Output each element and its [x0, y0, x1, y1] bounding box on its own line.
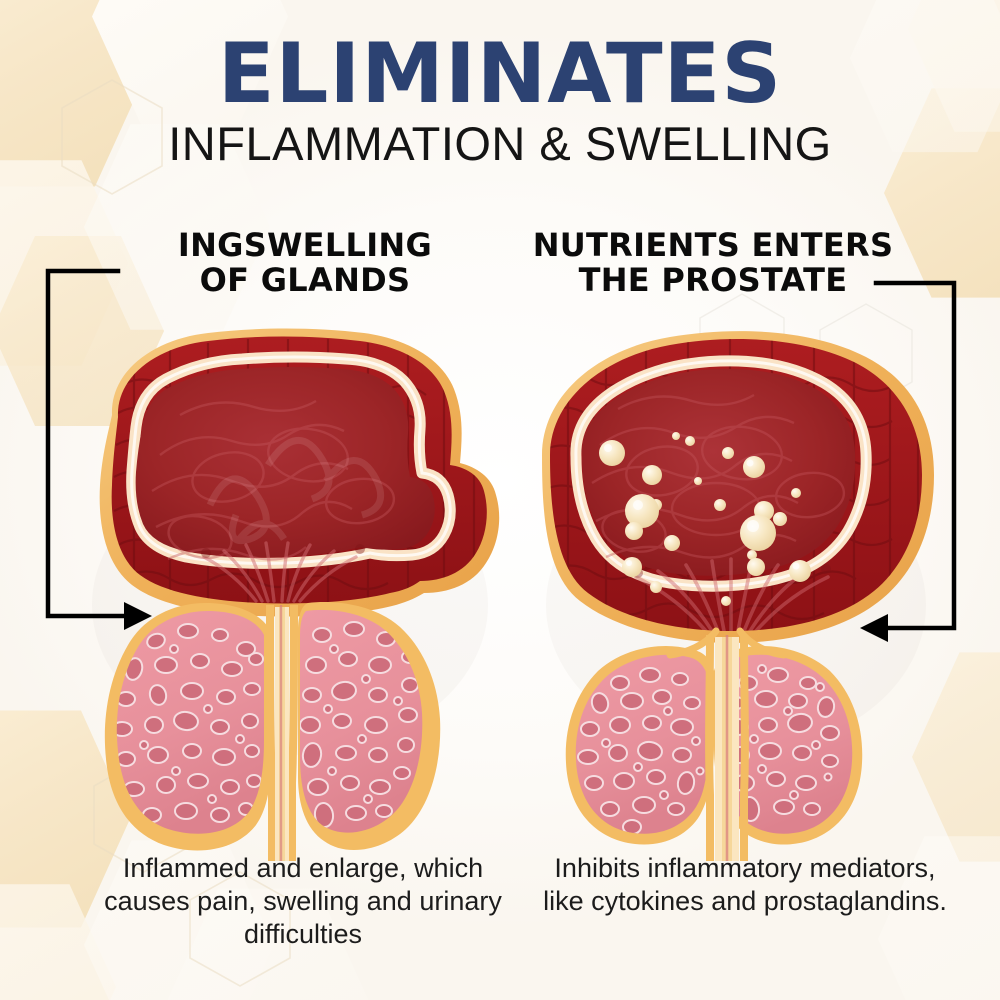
title-block: ELIMINATES INFLAMMATION & SWELLING [0, 34, 1000, 167]
illustration-left-enlarged-prostate [60, 305, 530, 865]
caption-left: Inflammed and enlarge, which causes pain… [78, 852, 528, 951]
infographic-canvas: ELIMINATES INFLAMMATION & SWELLING INGSW… [0, 0, 1000, 1000]
column-heading-right: NUTRIENTS ENTERS THE PROSTATE [508, 228, 918, 297]
column-heading-left: INGSWELLING OF GLANDS [110, 228, 500, 297]
bladder-interior [136, 367, 435, 557]
page-subtitle: INFLAMMATION & SWELLING [0, 120, 1000, 167]
heading-line-1: INGSWELLING [110, 228, 500, 263]
page-title: ELIMINATES [0, 34, 1000, 114]
illustration-right-healthy-prostate [510, 305, 960, 865]
urethra [266, 605, 298, 861]
heading-line-1: NUTRIENTS ENTERS [508, 228, 918, 263]
heading-line-2: THE PROSTATE [508, 263, 918, 298]
heading-line-2: OF GLANDS [110, 263, 500, 298]
caption-right: Inhibits inflammatory mediators, like cy… [540, 852, 950, 918]
